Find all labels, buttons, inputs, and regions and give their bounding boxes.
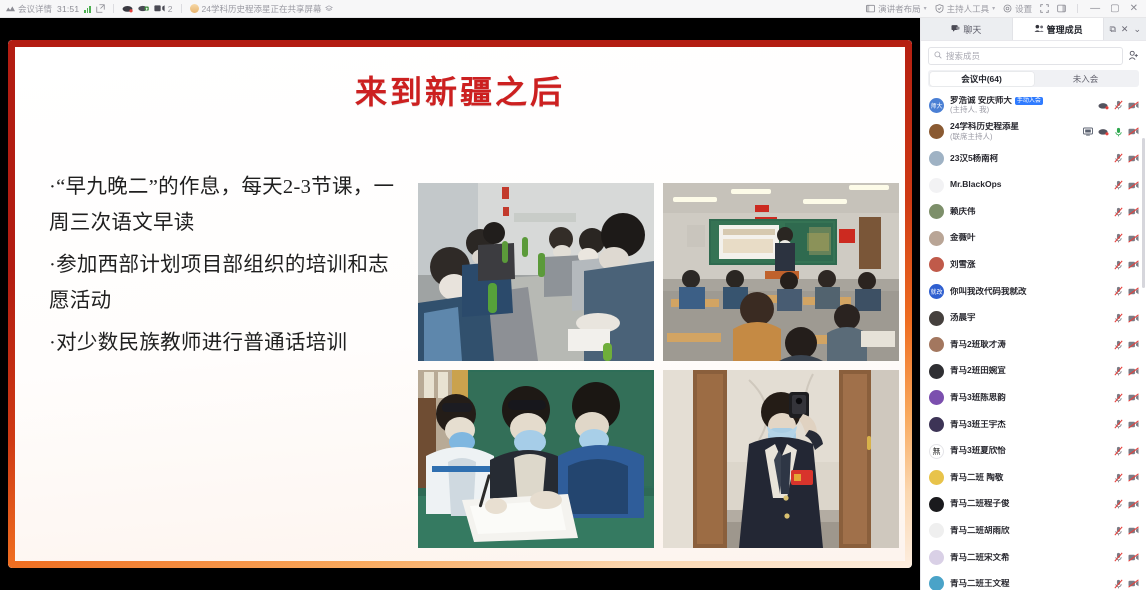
camera-off-icon[interactable]	[1128, 181, 1139, 190]
participants-count: 2	[168, 4, 173, 14]
tab-manage-members[interactable]: 管理成员	[1013, 18, 1105, 40]
mic-muted-icon[interactable]	[1114, 100, 1123, 110]
member-name-block: 青马二班宋文希	[950, 553, 1114, 563]
member-status-icons	[1114, 419, 1139, 429]
member-name-block: 青马3班王宇杰	[950, 420, 1114, 430]
avatar	[929, 337, 944, 352]
member-row[interactable]: 青马3班陈思韵	[921, 385, 1146, 412]
mic-muted-icon[interactable]	[1114, 233, 1123, 243]
gear-icon	[1003, 4, 1012, 13]
close-button[interactable]: ✕	[1129, 4, 1139, 14]
host-tools-label: 主持人工具	[947, 3, 990, 15]
member-name: 汤晨宇	[950, 313, 1114, 323]
maximize-button[interactable]: ▢	[1109, 4, 1120, 14]
camera-off-icon[interactable]	[1128, 101, 1139, 110]
member-name-block: 青马二班程子俊	[950, 499, 1114, 509]
panel-tab-bar: 聊天 管理成员 ⧉ ✕ ⌄	[921, 18, 1146, 41]
member-status-icons	[1114, 393, 1139, 403]
slide-photo-2	[663, 183, 899, 361]
member-status-icons	[1114, 579, 1139, 589]
bullet-item-3: ·对少数民族教师进行普通话培训	[49, 325, 409, 361]
camera-off-icon[interactable]	[1128, 314, 1139, 323]
camera-off-icon[interactable]	[1128, 260, 1139, 269]
layers-icon[interactable]	[325, 5, 333, 13]
toolbar-divider-3	[1077, 4, 1078, 13]
avatar	[929, 178, 944, 193]
member-name-block: 青马2班田婉宜	[950, 366, 1114, 376]
avatar	[929, 257, 944, 272]
layout-icon	[866, 4, 875, 13]
toolbar-divider	[113, 4, 114, 13]
mic-muted-icon[interactable]	[1114, 313, 1123, 323]
member-name: 你叫我改代码我就改	[950, 287, 1114, 297]
camera-off-icon[interactable]	[1128, 500, 1139, 509]
member-name-block: 你叫我改代码我就改	[950, 287, 1114, 297]
camera-off-icon[interactable]	[1128, 420, 1139, 429]
camera-off-icon[interactable]	[1128, 447, 1139, 456]
mic-muted-icon[interactable]	[1114, 153, 1123, 163]
avatar: 無	[929, 444, 944, 459]
member-name-block: 青马二班王文程	[950, 579, 1114, 589]
presentation-slide: 来到新疆之后 ·“早九晚二”的作息，每天2-3节课，一周三次语文早读 ·参加西部…	[8, 40, 912, 568]
toolbar-left-group: 会议详情 31:51 2	[0, 3, 333, 15]
member-row[interactable]: 青马2班田婉宜	[921, 358, 1146, 385]
meeting-timer: 31:51	[57, 4, 79, 14]
member-name: 青马二班 陶敬	[950, 473, 1114, 483]
panel-collapse-button[interactable]: ⌄	[1133, 24, 1141, 35]
member-status-icons	[1114, 180, 1139, 190]
avatar	[929, 470, 944, 485]
sharer-avatar	[190, 4, 199, 13]
camera-off-icon[interactable]	[1128, 127, 1139, 136]
member-name-block: 青马二班 陶敬	[950, 473, 1114, 483]
mic-muted-icon[interactable]	[1114, 552, 1123, 562]
avatar: 就改	[929, 284, 944, 299]
member-name: 青马3班陈思韵	[950, 393, 1114, 403]
chevron-down-icon: ▾	[924, 5, 927, 12]
camera-off-icon[interactable]	[1128, 287, 1139, 296]
tab-manage-members-label: 管理成员	[1047, 23, 1083, 36]
member-status-icons	[1114, 313, 1139, 323]
member-row[interactable]: 刘雪涨	[921, 252, 1146, 279]
member-name-block: 23汉5杨南柯	[950, 154, 1114, 164]
mic-muted-icon[interactable]	[1114, 207, 1123, 217]
member-name-block: 罗浩诚 安庆师大手动入会(主持人, 我)	[950, 96, 1098, 115]
member-row[interactable]: 青马二班 陶敬	[921, 464, 1146, 491]
participants-button[interactable]: 2	[154, 4, 173, 14]
mic-muted-icon[interactable]	[1114, 180, 1123, 190]
top-toolbar: 会议详情 31:51 2	[0, 0, 1146, 18]
mountains-icon	[6, 5, 15, 13]
member-name: 刘雪涨	[950, 260, 1114, 270]
member-tag-badge: 手动入会	[1015, 97, 1043, 105]
mic-muted-icon[interactable]	[1114, 473, 1123, 483]
mic-muted-icon[interactable]	[1114, 286, 1123, 296]
segment-in-meeting[interactable]: 会议中(64)	[930, 72, 1034, 86]
member-row[interactable]: 汤晨宇	[921, 305, 1146, 332]
member-row[interactable]: 23汉5杨南柯	[921, 145, 1146, 172]
member-status-icons	[1083, 127, 1139, 137]
avatar	[929, 231, 944, 246]
member-list[interactable]: 师大罗浩诚 安庆师大手动入会(主持人, 我)24学科历史程添星(联席主持人)23…	[921, 91, 1146, 590]
member-row[interactable]: 青马2班耿才涛	[921, 331, 1146, 358]
member-row[interactable]: 师大罗浩诚 安庆师大手动入会(主持人, 我)	[921, 92, 1146, 119]
member-name-block: Mr.BlackOps	[950, 180, 1114, 190]
cloud-record-icon[interactable]	[1098, 127, 1109, 136]
settings-label: 设置	[1015, 3, 1032, 15]
member-name-block: 青马二班胡雨欣	[950, 526, 1114, 536]
member-row[interactable]: 無青马3班夏欣怡	[921, 438, 1146, 465]
avatar	[929, 497, 944, 512]
chat-icon	[951, 24, 960, 35]
member-name-block: 青马3班陈思韵	[950, 393, 1114, 403]
slide-photo-4	[663, 370, 899, 548]
member-name: 金薇叶	[950, 233, 1114, 243]
cloud-record-icon[interactable]	[122, 4, 133, 13]
slide-title: 来到新疆之后	[15, 67, 905, 113]
member-status-icons	[1114, 552, 1139, 562]
avatar	[929, 124, 944, 139]
member-status-icons	[1114, 366, 1139, 376]
panel-popout-button[interactable]: ⧉	[1109, 24, 1115, 35]
search-icon	[934, 51, 942, 61]
shield-icon	[935, 4, 944, 13]
mic-muted-icon[interactable]	[1114, 579, 1123, 589]
member-name: 青马二班胡雨欣	[950, 526, 1114, 536]
avatar	[929, 364, 944, 379]
member-name-block: 青马3班夏欣怡	[950, 446, 1114, 456]
camera-off-icon[interactable]	[1128, 207, 1139, 216]
member-row[interactable]: 青马二班宋文希	[921, 544, 1146, 571]
member-row[interactable]: Mr.BlackOps	[921, 172, 1146, 199]
search-input-wrapper[interactable]: 搜索成员	[928, 47, 1123, 65]
shared-screen-stage: 来到新疆之后 ·“早九晚二”的作息，每天2-3节课，一周三次语文早读 ·参加西部…	[0, 18, 920, 590]
member-name: Mr.BlackOps	[950, 180, 1114, 190]
panel-window-buttons: ⧉ ✕ ⌄	[1104, 18, 1146, 40]
member-name: 青马二班宋文希	[950, 553, 1114, 563]
camera-off-icon[interactable]	[1128, 579, 1139, 588]
member-name-block: 赖庆伟	[950, 207, 1114, 217]
mic-muted-icon[interactable]	[1114, 446, 1123, 456]
member-row[interactable]: 金薇叶	[921, 225, 1146, 252]
member-name: 赖庆伟	[950, 207, 1114, 217]
settings-button[interactable]: 设置	[1003, 3, 1032, 15]
panel-scrollbar[interactable]	[1142, 138, 1145, 288]
host-tools-button[interactable]: 主持人工具 ▾	[935, 3, 996, 15]
avatar	[929, 523, 944, 538]
screen-share-icon[interactable]	[1083, 127, 1093, 136]
camera-off-icon[interactable]	[1128, 393, 1139, 402]
avatar: 师大	[929, 98, 944, 113]
camera-off-icon[interactable]	[1128, 473, 1139, 482]
slide-bullet-list: ·“早九晚二”的作息，每天2-3节课，一周三次语文早读 ·参加西部计划项目部组织…	[49, 169, 409, 367]
avatar	[929, 550, 944, 565]
member-name: 23汉5杨南柯	[950, 154, 1114, 164]
mic-on-icon[interactable]	[1114, 127, 1123, 137]
sharing-notice-label: 24学科历史程添星正在共享屏幕	[202, 3, 322, 15]
member-status-icons	[1114, 446, 1139, 456]
mic-muted-icon[interactable]	[1114, 340, 1123, 350]
toolbar-divider-2	[181, 4, 182, 13]
slide-photo-grid	[418, 183, 905, 548]
meeting-info-label: 会议详情	[18, 3, 52, 15]
member-name: 青马3班王宇杰	[950, 420, 1114, 430]
member-name-block: 青马2班耿才涛	[950, 340, 1114, 350]
fullscreen-icon[interactable]	[1040, 4, 1049, 13]
camera-off-icon[interactable]	[1128, 154, 1139, 163]
avatar	[929, 576, 944, 590]
slide-photo-1	[418, 183, 654, 361]
camera-off-icon[interactable]	[1128, 553, 1139, 562]
slide-photo-3	[418, 370, 654, 548]
add-person-icon[interactable]	[1128, 50, 1139, 63]
camera-off-icon[interactable]	[1128, 367, 1139, 376]
member-row[interactable]: 就改你叫我改代码我就改	[921, 278, 1146, 305]
network-signal-icon[interactable]	[84, 5, 91, 13]
member-status-icons	[1114, 526, 1139, 536]
member-row[interactable]: 24学科历史程添星(联席主持人)	[921, 119, 1146, 146]
member-status-icons	[1098, 100, 1139, 110]
member-name: 青马二班程子俊	[950, 499, 1114, 509]
member-row[interactable]: 赖庆伟	[921, 198, 1146, 225]
participants-panel: 聊天 管理成员 ⧉ ✕ ⌄ 搜索成员	[920, 18, 1146, 590]
camera-off-icon[interactable]	[1128, 340, 1139, 349]
camera-off-icon[interactable]	[1128, 526, 1139, 535]
search-input[interactable]: 搜索成员	[946, 50, 980, 62]
mic-muted-icon[interactable]	[1114, 526, 1123, 536]
avatar	[929, 390, 944, 405]
camera-off-icon[interactable]	[1128, 234, 1139, 243]
participants-icon	[154, 4, 165, 13]
member-row[interactable]: 青马二班程子俊	[921, 491, 1146, 518]
avatar	[929, 151, 944, 166]
member-name: 青马3班夏欣怡	[950, 446, 1114, 456]
member-status-icons	[1114, 153, 1139, 163]
member-status-icons	[1114, 260, 1139, 270]
panel-close-button[interactable]: ✕	[1121, 24, 1129, 35]
member-name: 青马2班田婉宜	[950, 366, 1114, 376]
popout-icon[interactable]	[96, 4, 105, 13]
member-name-block: 24学科历史程添星(联席主持人)	[950, 122, 1083, 141]
member-status-icons	[1114, 499, 1139, 509]
mic-muted-icon[interactable]	[1114, 260, 1123, 270]
segment-not-joined[interactable]: 未入会	[1034, 72, 1138, 86]
avatar	[929, 311, 944, 326]
tab-chat-label: 聊天	[963, 23, 981, 36]
member-status-icons	[1114, 207, 1139, 217]
member-search-row: 搜索成员	[921, 41, 1146, 70]
sidebar-toggle-icon[interactable]	[1057, 4, 1066, 13]
meeting-info-button[interactable]: 会议详情	[6, 3, 52, 15]
bullet-item-1: ·“早九晚二”的作息，每天2-3节课，一周三次语文早读	[49, 169, 409, 241]
member-filter-segments: 会议中(64) 未入会	[928, 70, 1139, 87]
mic-muted-icon[interactable]	[1114, 419, 1123, 429]
member-name-block: 刘雪涨	[950, 260, 1114, 270]
member-status-icons	[1114, 340, 1139, 350]
mic-muted-icon[interactable]	[1114, 499, 1123, 509]
member-status-icons	[1114, 286, 1139, 296]
avatar	[929, 204, 944, 219]
member-name-block: 汤晨宇	[950, 313, 1114, 323]
member-name-block: 金薇叶	[950, 233, 1114, 243]
speaker-layout-button[interactable]: 演讲者布局 ▾	[866, 3, 927, 15]
people-icon	[1034, 24, 1044, 35]
bullet-item-2: ·参加西部计划项目部组织的培训和志愿活动	[49, 247, 409, 319]
tab-chat[interactable]: 聊天	[921, 18, 1013, 40]
minimize-button[interactable]: —	[1089, 4, 1101, 14]
member-role-label: (联席主持人)	[950, 133, 1083, 142]
mic-muted-icon[interactable]	[1114, 393, 1123, 403]
member-role-label: (主持人, 我)	[950, 106, 1098, 115]
member-name: 青马2班耿才涛	[950, 340, 1114, 350]
member-row[interactable]: 青马二班胡雨欣	[921, 518, 1146, 545]
member-status-icons	[1114, 233, 1139, 243]
cloud-record-icon[interactable]	[1098, 101, 1109, 110]
mic-muted-icon[interactable]	[1114, 366, 1123, 376]
member-name: 青马二班王文程	[950, 579, 1114, 589]
chevron-down-icon-2: ▾	[992, 5, 995, 12]
member-row[interactable]: 青马3班王宇杰	[921, 411, 1146, 438]
share-cloud-icon[interactable]	[138, 4, 149, 13]
toolbar-right-group: 演讲者布局 ▾ 主持人工具 ▾ 设置	[866, 3, 1146, 15]
member-status-icons	[1114, 473, 1139, 483]
slide-content: 来到新疆之后 ·“早九晚二”的作息，每天2-3节课，一周三次语文早读 ·参加西部…	[15, 47, 905, 561]
speaker-layout-label: 演讲者布局	[878, 3, 921, 15]
sharing-notice: 24学科历史程添星正在共享屏幕	[190, 3, 333, 15]
meeting-window: 会议详情 31:51 2	[0, 0, 1146, 590]
member-name: 24学科历史程添星	[950, 122, 1083, 132]
member-row[interactable]: 青马二班王文程	[921, 571, 1146, 590]
avatar	[929, 417, 944, 432]
